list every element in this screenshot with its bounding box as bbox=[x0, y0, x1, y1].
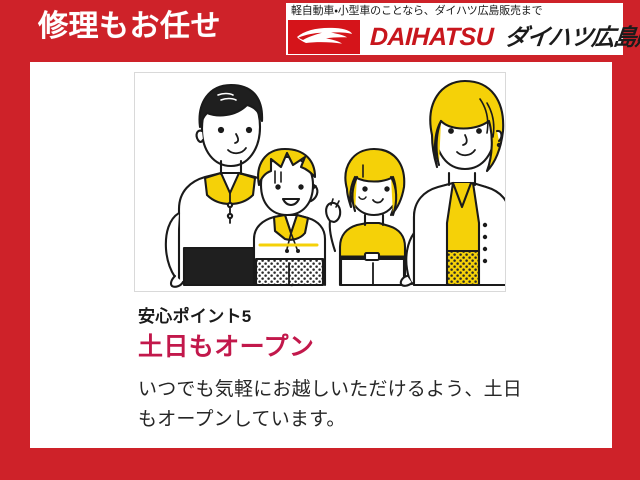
advertisement-page: 修理もお任せ 軽自動車・小型車のことなら、ダイハツ広島販売まで DAIHATSU… bbox=[0, 0, 640, 480]
point-eyebrow: 安心ポイント5 bbox=[138, 305, 558, 329]
header-band: 修理もお任せ 軽自動車・小型車のことなら、ダイハツ広島販売まで DAIHATSU… bbox=[0, 0, 640, 62]
point-headline: 土日もオープン bbox=[138, 331, 558, 364]
daihatsu-d-mark-icon bbox=[288, 20, 360, 54]
logo-lockup: DAIHATSU ダイハツ広島販売 bbox=[288, 20, 621, 54]
daihatsu-wordmark: DAIHATSU bbox=[369, 22, 493, 52]
content-card: 安心ポイント5 土日もオープン いつでも気軽にお越しいただけるよう、土日もオープ… bbox=[30, 62, 612, 448]
header-headline: 修理もお任せ bbox=[38, 6, 221, 48]
point-body-text: いつでも気軽にお越しいただけるよう、土日もオープンしています。 bbox=[138, 375, 528, 435]
logo-panel: 軽自動車・小型車のことなら、ダイハツ広島販売まで DAIHATSU ダイハツ広島… bbox=[286, 3, 623, 55]
dealer-name: ダイハツ広島販売 bbox=[504, 23, 640, 51]
family-illustration bbox=[134, 72, 506, 292]
logo-tagline: 軽自動車・小型車のことなら、ダイハツ広島販売まで bbox=[291, 4, 542, 19]
copy-block: 安心ポイント5 土日もオープン いつでも気軽にお越しいただけるよう、土日もオープ… bbox=[138, 305, 558, 435]
